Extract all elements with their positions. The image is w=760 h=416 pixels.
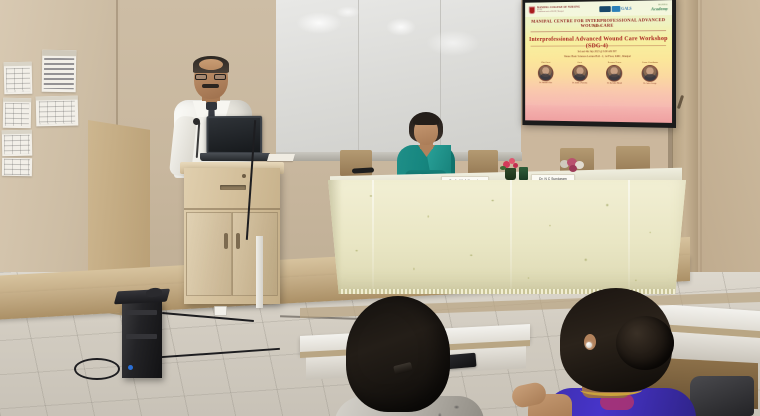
slide-venue: Venue: Basic Sciences Lecture Hall - 2, … xyxy=(525,55,672,58)
hair-bun xyxy=(616,316,674,370)
slide-divider xyxy=(531,30,667,32)
sdg-goals-text: G ALS xyxy=(621,6,631,11)
college-logo: MANIPAL COLLEGE OF NURSING MAHE Constitu… xyxy=(529,5,580,14)
podium-handle-slot[interactable] xyxy=(220,185,246,190)
speaker-portrait xyxy=(606,65,622,82)
wall-notice-sheet xyxy=(4,62,33,95)
podium-knob xyxy=(242,174,246,178)
flower-vase xyxy=(505,168,516,180)
slide-organises: Organises xyxy=(525,24,672,28)
slide-speaker: Course Coordinator Dr. Anice George xyxy=(634,62,666,85)
podium-mic-head xyxy=(193,118,200,125)
speaker-role: Resource Person xyxy=(599,62,630,64)
speaker-portrait xyxy=(572,65,588,82)
podium-door-handle[interactable] xyxy=(236,233,240,249)
slide-footer-band xyxy=(525,105,672,123)
podium-door-right[interactable] xyxy=(232,212,278,296)
sdg-box-icon xyxy=(611,5,620,11)
slide-header-row: MANIPAL COLLEGE OF NURSING MAHE Constitu… xyxy=(525,0,672,17)
speaker-role: Guest xyxy=(564,62,595,64)
academy-name: Academy xyxy=(651,6,668,11)
projector-screen-frame: MANIPAL COLLEGE OF NURSING MAHE Constitu… xyxy=(522,0,676,128)
speaker-role: Chief Guest xyxy=(531,62,561,64)
coiled-cable xyxy=(74,358,120,380)
sdg-box-icon xyxy=(599,6,610,12)
guest-fringe xyxy=(413,116,439,125)
wall-notice-sheet xyxy=(42,50,77,93)
attendee-front-left xyxy=(340,296,460,416)
necktie-knot xyxy=(206,102,217,110)
earring-icon xyxy=(586,342,592,348)
eyeglasses-icon xyxy=(195,74,227,80)
optical-drive-bay[interactable] xyxy=(126,310,157,315)
water-tumbler xyxy=(519,167,528,180)
papers-on-podium xyxy=(267,154,295,161)
power-led-icon xyxy=(128,365,133,370)
slide-speaker: Chief Guest Dr. Sharath K Rao xyxy=(531,62,561,85)
wall-notice-sheet xyxy=(2,158,32,176)
speaker-name: Dr. Judith A Noronha xyxy=(564,82,595,85)
lecture-hall-photo: MANIPAL COLLEGE OF NURSING MAHE Constitu… xyxy=(0,0,760,416)
speaker-portrait xyxy=(538,65,554,81)
wall-notice-sheet xyxy=(36,96,79,127)
chair[interactable] xyxy=(690,376,754,416)
slide-date: 3rd and 4th July 2023 @ 9.00 AM IST xyxy=(525,50,672,53)
crest-icon xyxy=(529,6,535,14)
projector-screen: MANIPAL COLLEGE OF NURSING MAHE Constitu… xyxy=(525,0,672,123)
desktop-computer-tower xyxy=(122,300,162,378)
speaker-moustache xyxy=(202,84,219,88)
sdg-logo: G ALS xyxy=(599,5,631,11)
drive-bay xyxy=(126,334,157,339)
speaker-role: Course Coordinator xyxy=(634,62,666,64)
tablecloth xyxy=(328,180,686,294)
attendee-front-right xyxy=(552,288,684,416)
academy-logo: MANIPAL Academy xyxy=(651,4,668,11)
wooden-lectern xyxy=(184,168,280,304)
speaker-name: Dr. Sharath K Rao xyxy=(531,82,561,85)
podium-door-handle[interactable] xyxy=(224,233,228,249)
slide-speaker: Guest Dr. Judith A Noronha xyxy=(564,62,595,85)
slide-speaker: Resource Person Dr. Ravindra Maradi xyxy=(599,62,630,85)
wall-notice-sheet xyxy=(3,98,31,128)
flower-leaf-icon xyxy=(500,166,506,170)
speaker-forehead xyxy=(199,59,223,70)
wall-notice-sheet xyxy=(2,130,33,157)
wall-seam xyxy=(700,0,702,300)
laptop-base[interactable] xyxy=(200,153,270,161)
speaker-name: Dr. Anice George xyxy=(634,83,666,86)
podium-door-left[interactable] xyxy=(186,212,232,296)
flower-bloom-icon xyxy=(513,163,518,168)
slide-speaker-row: Chief Guest Dr. Sharath K Rao Guest Dr. … xyxy=(531,62,667,85)
podium-divider xyxy=(184,208,280,210)
speaker-name: Dr. Ravindra Maradi xyxy=(599,83,630,86)
cable-conduit xyxy=(256,236,263,308)
speaker-portrait xyxy=(642,65,659,82)
college-affiliation: Constituent unit of MAHE, Manipal xyxy=(537,10,580,13)
slide-title: Interprofessional Advanced Wound Care Wo… xyxy=(525,35,672,50)
floral-arrangement xyxy=(560,158,586,174)
attendee-hair xyxy=(346,296,450,412)
floor-power-socket[interactable] xyxy=(214,306,227,316)
